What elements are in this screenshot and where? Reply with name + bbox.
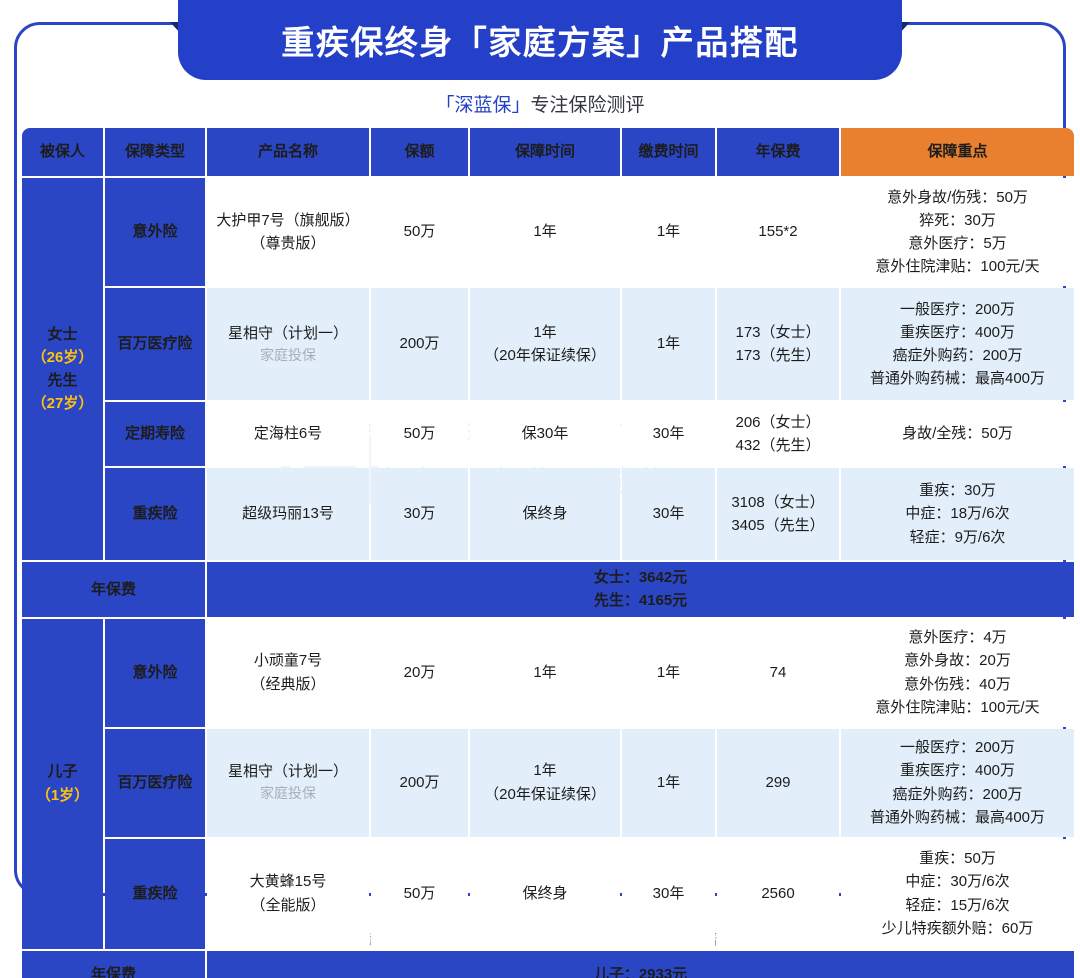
highlight-item: 重疾：30万 (844, 479, 1071, 502)
row-pay-term: 30年 (622, 468, 715, 560)
row-product: 星相守（计划一） 家庭投保 (207, 288, 369, 400)
ribbon-body: 重疾保终身「家庭方案」产品搭配 (178, 0, 902, 80)
subtitle-rest: 专注保险测评 (531, 95, 645, 116)
premium-line2: 432（先生） (720, 434, 836, 457)
row-term: 保30年 (470, 402, 620, 466)
row-product: 星相守（计划一） 家庭投保 (207, 729, 369, 837)
highlight-item: 癌症外购药：200万 (844, 783, 1071, 806)
row-pay-term: 1年 (622, 288, 715, 400)
row-term: 1年 （20年保证续保） (470, 288, 620, 400)
insurance-plan-poster: 重疾保终身「家庭方案」产品搭配 「深蓝保」专注保险测评 shenlanbao.c… (0, 0, 1080, 978)
row-term: 保终身 (470, 468, 620, 560)
summary-value: 儿子：2933元 (210, 963, 1071, 978)
row-term: 保终身 (470, 839, 620, 949)
row-amount: 50万 (371, 178, 468, 286)
highlight-item: 身故/全残：50万 (844, 422, 1071, 445)
highlight-item: 癌症外购药：200万 (844, 344, 1071, 367)
highlight-item: 意外医疗：5万 (844, 232, 1071, 255)
highlight-item: 轻症：9万/6次 (844, 526, 1071, 549)
product-name-line2: （经典版） (210, 673, 366, 696)
col-header-product: 产品名称 (207, 128, 369, 176)
highlight-item: 中症：30万/6次 (844, 870, 1071, 893)
subtitle: 「深蓝保」专注保险测评 (0, 90, 1080, 117)
row-term: 1年 （20年保证续保） (470, 729, 620, 837)
row-type: 重疾险 (105, 468, 205, 560)
summary-label: 年保费 (22, 562, 205, 617)
table-row: 定期寿险 定海柱6号 50万 保30年 30年 206（女士） 432（先生） … (22, 402, 1074, 466)
highlight-item: 重疾医疗：400万 (844, 759, 1071, 782)
row-product: 大护甲7号（旗舰版） （尊贵版） (207, 178, 369, 286)
row-product: 超级玛丽13号 (207, 468, 369, 560)
product-note: 家庭投保 (210, 783, 366, 805)
page-title: 重疾保终身「家庭方案」产品搭配 (281, 16, 799, 64)
table-row: 重疾险 大黄蜂15号 （全能版） 50万 保终身 30年 2560 重疾：50万… (22, 839, 1074, 949)
insured-cell-adults: 女士 （26岁） 先生 （27岁） (22, 178, 103, 560)
row-type: 定期寿险 (105, 402, 205, 466)
product-name-line1: 大黄蜂15号 (210, 870, 366, 893)
row-product: 小顽童7号 （经典版） (207, 619, 369, 727)
table-row: 百万医疗险 星相守（计划一） 家庭投保 200万 1年 （20年保证续保） 1年… (22, 288, 1074, 400)
summary-row-child: 年保费 儿子：2933元 (22, 951, 1074, 978)
row-premium: 299 (717, 729, 839, 837)
row-type: 意外险 (105, 178, 205, 286)
row-type: 百万医疗险 (105, 288, 205, 400)
table-row: 百万医疗险 星相守（计划一） 家庭投保 200万 1年 （20年保证续保） 1年… (22, 729, 1074, 837)
summary-values: 儿子：2933元 (207, 951, 1074, 978)
highlight-item: 猝死：30万 (844, 209, 1071, 232)
row-pay-term: 1年 (622, 619, 715, 727)
row-premium: 3108（女士） 3405（先生） (717, 468, 839, 560)
subtitle-brand: 「深蓝保」 (435, 95, 530, 116)
col-header-insured: 被保人 (22, 128, 103, 176)
premium-line1: 206（女士） (720, 411, 836, 434)
col-header-premium: 年保费 (717, 128, 839, 176)
row-premium: 206（女士） 432（先生） (717, 402, 839, 466)
summary-row-adults: 年保费 女士：3642元 先生：4165元 (22, 562, 1074, 617)
plan-table: 被保人 保障类型 产品名称 保额 保障时间 缴费时间 年保费 保障重点 女士 （… (20, 126, 1076, 978)
col-header-term: 保障时间 (470, 128, 620, 176)
insured-name-child: 儿子 (47, 763, 77, 780)
title-ribbon: 重疾保终身「家庭方案」产品搭配 (0, 0, 1080, 80)
product-name-line1: 星相守（计划一） (210, 322, 366, 345)
row-pay-term: 30年 (622, 402, 715, 466)
row-premium: 2560 (717, 839, 839, 949)
row-term: 1年 (470, 619, 620, 727)
table-header-row: 被保人 保障类型 产品名称 保额 保障时间 缴费时间 年保费 保障重点 (22, 128, 1074, 176)
row-amount: 30万 (371, 468, 468, 560)
row-type: 意外险 (105, 619, 205, 727)
product-name-line2: （尊贵版） (210, 232, 366, 255)
row-pay-term: 30年 (622, 839, 715, 949)
insured-cell-child: 儿子 （1岁） (22, 619, 103, 949)
row-highlights: 一般医疗：200万 重疾医疗：400万 癌症外购药：200万 普通外购药械：最高… (841, 288, 1074, 400)
row-premium: 74 (717, 619, 839, 727)
highlight-item: 重疾：50万 (844, 847, 1071, 870)
row-type: 百万医疗险 (105, 729, 205, 837)
row-amount: 50万 (371, 839, 468, 949)
row-type: 重疾险 (105, 839, 205, 949)
row-amount: 20万 (371, 619, 468, 727)
table-row: 女士 （26岁） 先生 （27岁） 意外险 大护甲7号（旗舰版） （尊贵版） 5… (22, 178, 1074, 286)
row-product: 大黄蜂15号 （全能版） (207, 839, 369, 949)
premium-line2: 3405（先生） (720, 514, 836, 537)
row-amount: 200万 (371, 729, 468, 837)
row-amount: 200万 (371, 288, 468, 400)
term-line2: （20年保证续保） (473, 344, 617, 367)
product-note: 家庭投保 (210, 345, 366, 367)
table-row: 儿子 （1岁） 意外险 小顽童7号 （经典版） 20万 1年 1年 74 意外医… (22, 619, 1074, 727)
row-highlights: 重疾：30万 中症：18万/6次 轻症：9万/6次 (841, 468, 1074, 560)
product-name-line1: 星相守（计划一） (210, 760, 366, 783)
col-header-pay-term: 缴费时间 (622, 128, 715, 176)
row-premium: 155*2 (717, 178, 839, 286)
highlight-item: 普通外购药械：最高400万 (844, 806, 1071, 829)
row-product: 定海柱6号 (207, 402, 369, 466)
highlight-item: 重疾医疗：400万 (844, 321, 1071, 344)
col-header-amount: 保额 (371, 128, 468, 176)
summary-label: 年保费 (22, 951, 205, 978)
highlight-item: 意外医疗：4万 (844, 626, 1071, 649)
col-header-type: 保障类型 (105, 128, 205, 176)
term-line1: 1年 (473, 759, 617, 782)
summary-value: 女士：3642元 (210, 566, 1071, 589)
col-header-highlights: 保障重点 (841, 128, 1074, 176)
highlight-item: 轻症：15万/6次 (844, 894, 1071, 917)
row-term: 1年 (470, 178, 620, 286)
premium-line2: 173（先生） (720, 344, 836, 367)
highlight-item: 普通外购药械：最高400万 (844, 367, 1071, 390)
highlight-item: 意外身故/伤残：50万 (844, 186, 1071, 209)
highlight-item: 少儿特疾额外赔：60万 (844, 917, 1071, 940)
product-name-line2: （全能版） (210, 894, 366, 917)
row-highlights: 身故/全残：50万 (841, 402, 1074, 466)
row-highlights: 意外身故/伤残：50万 猝死：30万 意外医疗：5万 意外住院津贴：100元/天 (841, 178, 1074, 286)
row-highlights: 重疾：50万 中症：30万/6次 轻症：15万/6次 少儿特疾额外赔：60万 (841, 839, 1074, 949)
insured-age-1: （26岁） (25, 346, 100, 369)
row-highlights: 一般医疗：200万 重疾医疗：400万 癌症外购药：200万 普通外购药械：最高… (841, 729, 1074, 837)
highlight-item: 意外伤残：40万 (844, 673, 1071, 696)
summary-values: 女士：3642元 先生：4165元 (207, 562, 1074, 617)
highlight-item: 一般医疗：200万 (844, 736, 1071, 759)
highlight-item: 一般医疗：200万 (844, 298, 1071, 321)
insured-age-2: （27岁） (25, 392, 100, 415)
row-pay-term: 1年 (622, 729, 715, 837)
row-highlights: 意外医疗：4万 意外身故：20万 意外伤残：40万 意外住院津贴：100元/天 (841, 619, 1074, 727)
highlight-item: 意外住院津贴：100元/天 (844, 255, 1071, 278)
term-line1: 1年 (473, 321, 617, 344)
row-premium: 173（女士） 173（先生） (717, 288, 839, 400)
premium-line1: 3108（女士） (720, 491, 836, 514)
highlight-item: 意外身故：20万 (844, 649, 1071, 672)
product-name-line1: 小顽童7号 (210, 649, 366, 672)
premium-line1: 173（女士） (720, 321, 836, 344)
insured-name-1: 女士 (47, 326, 77, 343)
table-row: 重疾险 超级玛丽13号 30万 保终身 30年 3108（女士） 3405（先生… (22, 468, 1074, 560)
highlight-item: 中症：18万/6次 (844, 502, 1071, 525)
row-pay-term: 1年 (622, 178, 715, 286)
term-line2: （20年保证续保） (473, 783, 617, 806)
highlight-item: 意外住院津贴：100元/天 (844, 696, 1071, 719)
row-amount: 50万 (371, 402, 468, 466)
product-name-line1: 大护甲7号（旗舰版） (210, 209, 366, 232)
insured-name-2: 先生 (47, 372, 77, 389)
summary-value: 先生：4165元 (210, 589, 1071, 612)
insured-age-child: （1岁） (25, 784, 100, 807)
